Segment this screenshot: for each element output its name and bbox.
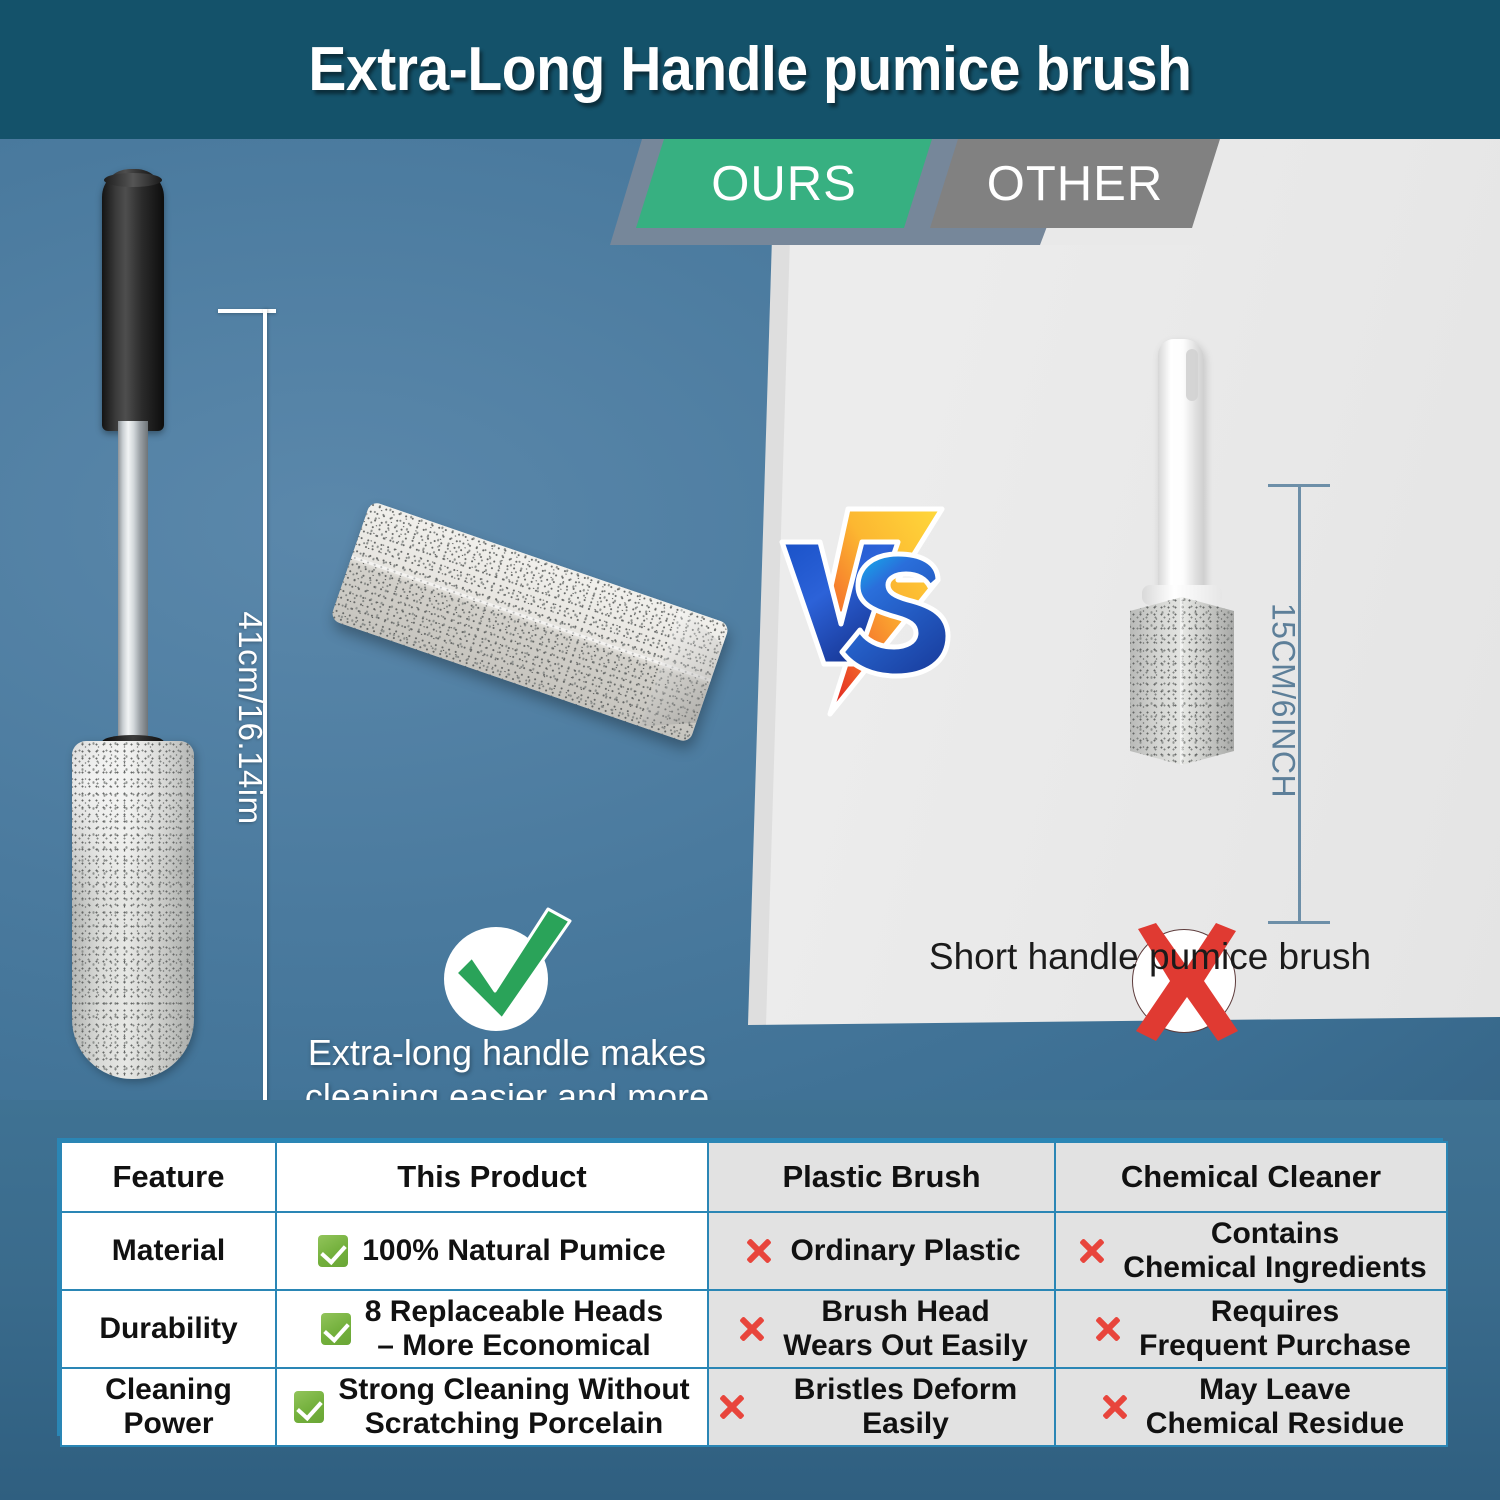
- cell-plastic-brush-cleaning-power: Bristles Deform Easily: [708, 1368, 1055, 1446]
- comparison-table-wrapper: Feature This Product Plastic Brush Chemi…: [57, 1138, 1443, 1436]
- bracket-top-cap: [218, 309, 276, 313]
- banner-other-tab: OTHER: [930, 139, 1220, 228]
- infographic-page: Extra-Long Handle pumice brush OURS OTHE…: [0, 0, 1500, 1500]
- cell-this-product-durability: 8 Replaceable Heads– More Economical: [276, 1290, 708, 1368]
- green-check-badge-icon: [432, 907, 572, 1037]
- cell-text: Ordinary Plastic: [790, 1234, 1020, 1268]
- cell-text: 8 Replaceable Heads– More Economical: [365, 1295, 664, 1363]
- cell-plastic-brush-material: Ordinary Plastic: [708, 1212, 1055, 1290]
- short-handle-brush-icon: [1120, 339, 1260, 769]
- cell-text: May LeaveChemical Residue: [1146, 1373, 1404, 1441]
- length-dimension-bracket-ours: 41cm/16.14im: [210, 309, 280, 1100]
- cell-text: Strong Cleaning WithoutScratching Porcel…: [338, 1373, 689, 1441]
- short-brush-plastic-handle: [1158, 339, 1204, 597]
- cell-feature-cleaning-power: Cleaning Power: [61, 1368, 276, 1446]
- caption-ours: Extra-long handle makes cleaning easier …: [272, 1031, 742, 1100]
- red-x-icon: [735, 1312, 769, 1346]
- red-x-icon: [1091, 1312, 1125, 1346]
- cell-chemical-cleaner-cleaning-power: May LeaveChemical Residue: [1055, 1368, 1447, 1446]
- red-x-icon: [715, 1390, 749, 1424]
- cell-feature-durability: Durability: [61, 1290, 276, 1368]
- comparison-table: Feature This Product Plastic Brush Chemi…: [60, 1141, 1448, 1447]
- table-row: Material 100% Natural Pumice Ordinary Pl…: [61, 1212, 1447, 1290]
- pumice-texture: [72, 741, 194, 1079]
- brush-steel-shaft: [118, 421, 148, 751]
- cell-this-product-material: 100% Natural Pumice: [276, 1212, 708, 1290]
- cell-text: RequiresFrequent Purchase: [1139, 1295, 1411, 1363]
- red-x-icon: [742, 1234, 776, 1268]
- cell-text: ContainsChemical Ingredients: [1123, 1217, 1426, 1285]
- cell-text: Brush HeadWears Out Easily: [783, 1295, 1028, 1363]
- comparison-stage: OURS OTHER 41cm/16.14im: [0, 139, 1500, 1100]
- red-x-icon: [1098, 1390, 1132, 1424]
- pumice-replacement-bar-icon: [330, 501, 730, 744]
- bracket-bottom-cap-other: [1268, 921, 1330, 924]
- table-row: Durability 8 Replaceable Heads– More Eco…: [61, 1290, 1447, 1368]
- cell-this-product-cleaning-power: Strong Cleaning WithoutScratching Porcel…: [276, 1368, 708, 1446]
- table-row: Cleaning Power Strong Cleaning WithoutSc…: [61, 1368, 1447, 1446]
- header-bar: Extra-Long Handle pumice brush: [0, 0, 1500, 139]
- col-header-feature: Feature: [61, 1142, 276, 1212]
- red-x-icon: [1075, 1234, 1109, 1268]
- banner-other-label: OTHER: [987, 156, 1164, 212]
- banner-ours-label: OURS: [711, 156, 857, 212]
- col-header-plastic-brush: Plastic Brush: [708, 1142, 1055, 1212]
- brush-rubber-grip: [102, 169, 164, 431]
- banner-ours-tab: OURS: [636, 139, 932, 228]
- cell-feature-material: Material: [61, 1212, 276, 1290]
- table-header-row: Feature This Product Plastic Brush Chemi…: [61, 1142, 1447, 1212]
- green-check-icon: [318, 1235, 348, 1267]
- short-pumice-ridge: [1180, 597, 1183, 765]
- length-dimension-bracket-other: 15CM/6INCH: [1268, 484, 1338, 924]
- cell-text: Bristles Deform Easily: [763, 1373, 1048, 1441]
- short-brush-pumice-block: [1130, 597, 1234, 765]
- col-header-chemical-cleaner: Chemical Cleaner: [1055, 1142, 1447, 1212]
- vs-lightning-icon: [770, 484, 970, 734]
- cell-chemical-cleaner-material: ContainsChemical Ingredients: [1055, 1212, 1447, 1290]
- col-header-this-product: This Product: [276, 1142, 708, 1212]
- green-check-icon: [294, 1391, 324, 1423]
- brush-pumice-head: [72, 741, 194, 1079]
- cell-text: 100% Natural Pumice: [362, 1234, 665, 1268]
- dimension-label-other: 15CM/6INCH: [1265, 531, 1302, 871]
- dimension-label-ours: 41cm/16.14im: [231, 518, 269, 918]
- cell-plastic-brush-durability: Brush HeadWears Out Easily: [708, 1290, 1055, 1368]
- cell-chemical-cleaner-durability: RequiresFrequent Purchase: [1055, 1290, 1447, 1368]
- caption-other: Short handle pumice brush: [890, 934, 1410, 980]
- green-check-icon: [321, 1313, 351, 1345]
- page-title: Extra-Long Handle pumice brush: [308, 34, 1191, 105]
